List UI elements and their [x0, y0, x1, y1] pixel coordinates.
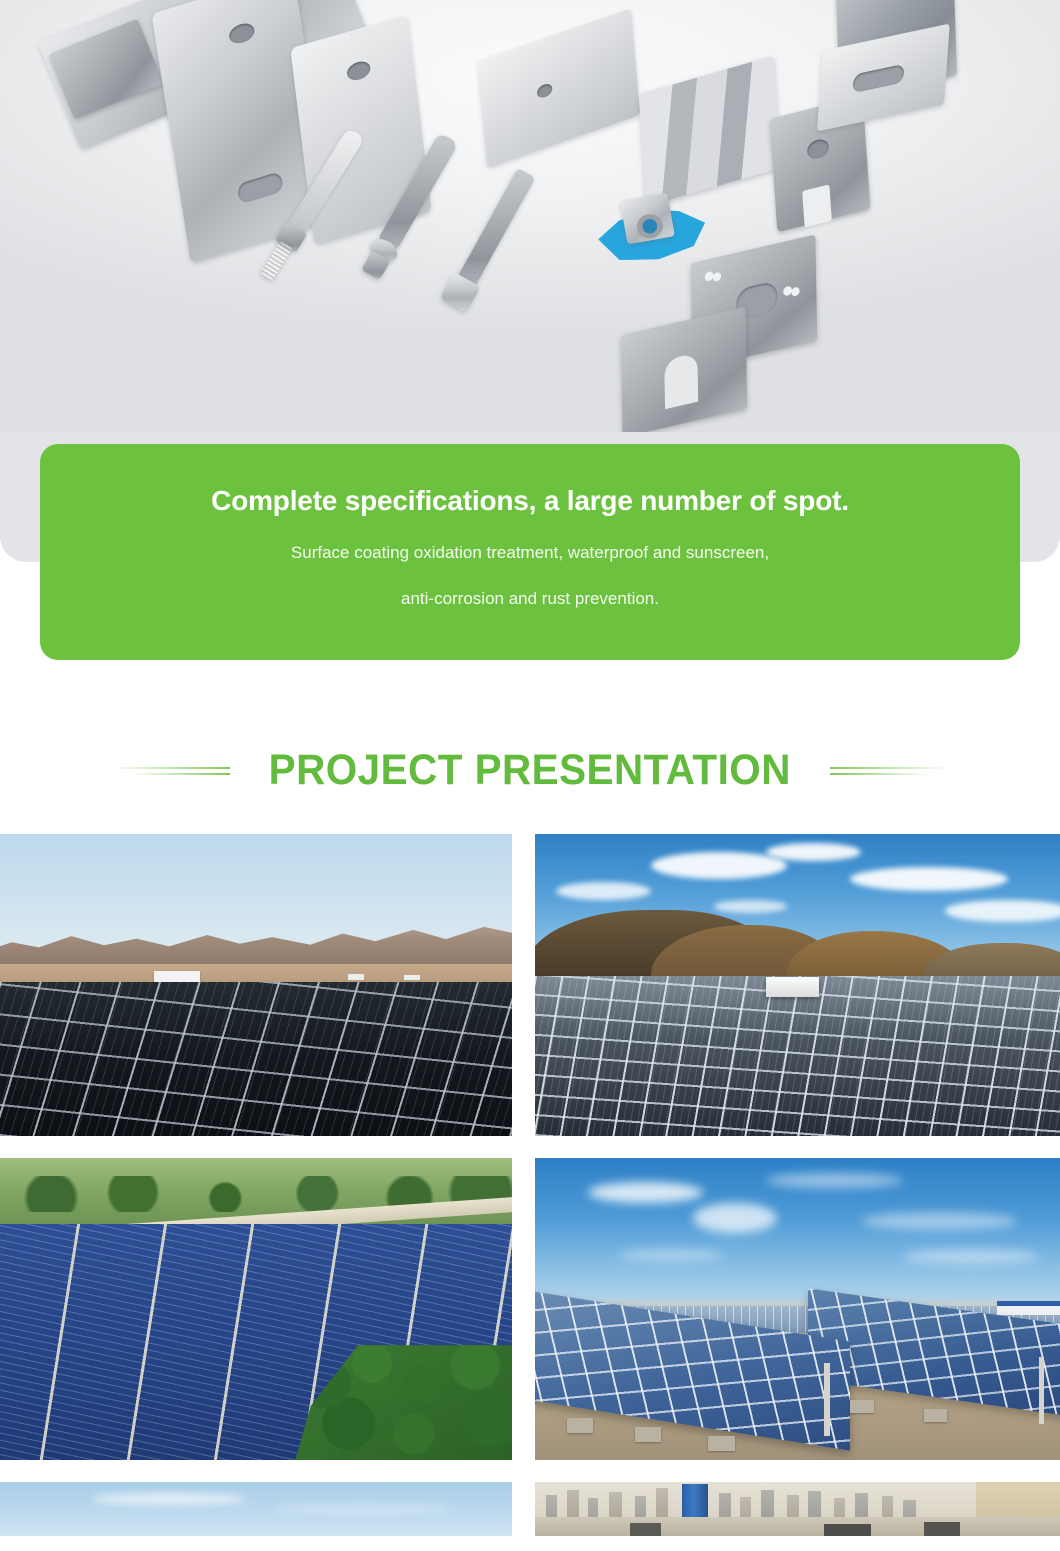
gallery-row — [0, 834, 1060, 1136]
feature-highlight-card: Complete specifications, a large number … — [40, 444, 1020, 660]
product-detail-page: Complete specifications, a large number … — [0, 0, 1060, 1551]
aluminium-mid-clamp-part — [478, 8, 641, 168]
photo-ground-mount-solar-array — [535, 1158, 1060, 1460]
gallery-row — [0, 1482, 1060, 1536]
gallery-row — [0, 1158, 1060, 1460]
heading-ornament-right-icon — [830, 759, 950, 781]
bracket-hole — [228, 21, 256, 47]
project-presentation-heading: PROJECT PRESENTATION — [0, 714, 1060, 826]
gallery-item-aerial-blue-solar-farm[interactable] — [0, 1158, 512, 1460]
gallery-item-plateau-solar-farm[interactable] — [535, 834, 1060, 1136]
feature-card-line-2: anti-corrosion and rust prevention. — [40, 589, 1020, 609]
clamp-hole — [537, 82, 553, 100]
galvanized-ground-base-part — [798, 0, 1024, 141]
ground-base-slot — [852, 64, 904, 93]
feature-card-line-1: Surface coating oxidation treatment, wat… — [40, 543, 1020, 563]
hero-section: Complete specifications, a large number … — [0, 0, 1060, 670]
project-photo-grid — [0, 834, 1060, 1536]
photo-aerial-blue-solar-farm — [0, 1158, 512, 1460]
aluminium-end-clamp-part — [639, 56, 781, 207]
photo-desert-solar-farm — [0, 834, 512, 1136]
photo-plateau-solar-farm — [535, 834, 1060, 1136]
photo-pale-sky-solar-project — [0, 1482, 512, 1536]
stainless-base-plate-slotted-part — [621, 306, 748, 432]
feature-card-title: Complete specifications, a large number … — [40, 486, 1020, 517]
heading-ornament-left-icon — [110, 759, 230, 781]
gallery-item-desert-solar-farm[interactable] — [0, 834, 512, 1136]
clamp-hole — [807, 137, 830, 161]
photo-industrial-plant-skyline — [535, 1482, 1060, 1536]
hero-product-photo — [0, 0, 1060, 432]
section-title: PROJECT PRESENTATION — [269, 746, 791, 795]
bracket-slot — [237, 171, 284, 204]
hex-head-bolt-part — [432, 166, 538, 329]
gallery-item-pale-sky-solar-project[interactable] — [0, 1482, 512, 1536]
gallery-item-ground-mount-solar-array[interactable] — [535, 1158, 1060, 1460]
gallery-item-industrial-plant-skyline[interactable] — [535, 1482, 1060, 1536]
bracket-hole — [346, 59, 371, 83]
